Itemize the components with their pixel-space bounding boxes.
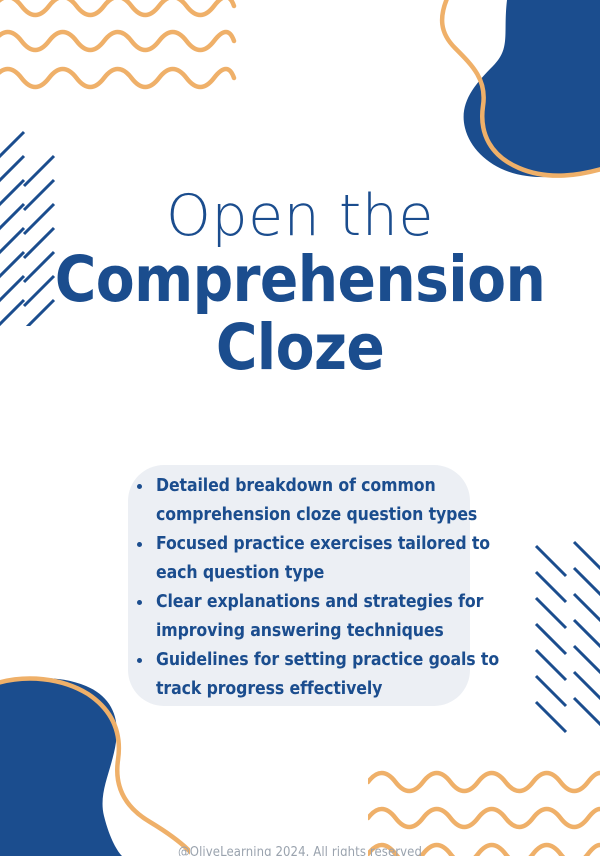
poster-canvas: Open the Comprehension Cloze Detailed br… [0, 0, 600, 856]
list-item: Focused practice exercises tailored to e… [128, 530, 500, 587]
bullet-dot-icon [137, 600, 142, 605]
list-item-label: Focused practice exercises tailored to e… [156, 534, 490, 583]
features-list: Detailed breakdown of common comprehensi… [128, 472, 500, 704]
title-line-comprehension: Comprehension [0, 246, 600, 314]
title-line-open-the: Open the [0, 186, 600, 246]
list-item: Guidelines for setting practice goals to… [128, 646, 500, 703]
blue-blob-shape-icon [415, 0, 600, 205]
bullet-dot-icon [137, 542, 142, 547]
footer-copyright: @OliveLearning 2024. All rights reserved [0, 845, 600, 856]
list-item: Detailed breakdown of common comprehensi… [128, 472, 500, 529]
orange-wave-pattern-icon [368, 768, 600, 856]
bullet-dot-icon [137, 484, 142, 489]
list-item-label: Guidelines for setting practice goals to… [156, 650, 499, 699]
page-title: Open the Comprehension Cloze [0, 186, 600, 382]
orange-wave-pattern-icon [0, 0, 244, 99]
list-item-label: Clear explanations and strategies for im… [156, 592, 483, 641]
list-item-label: Detailed breakdown of common comprehensi… [156, 476, 477, 525]
bullet-dot-icon [137, 658, 142, 663]
list-item: Clear explanations and strategies for im… [128, 588, 500, 645]
blue-diagonal-hatch-icon [526, 540, 600, 740]
title-line-cloze: Cloze [0, 314, 600, 382]
